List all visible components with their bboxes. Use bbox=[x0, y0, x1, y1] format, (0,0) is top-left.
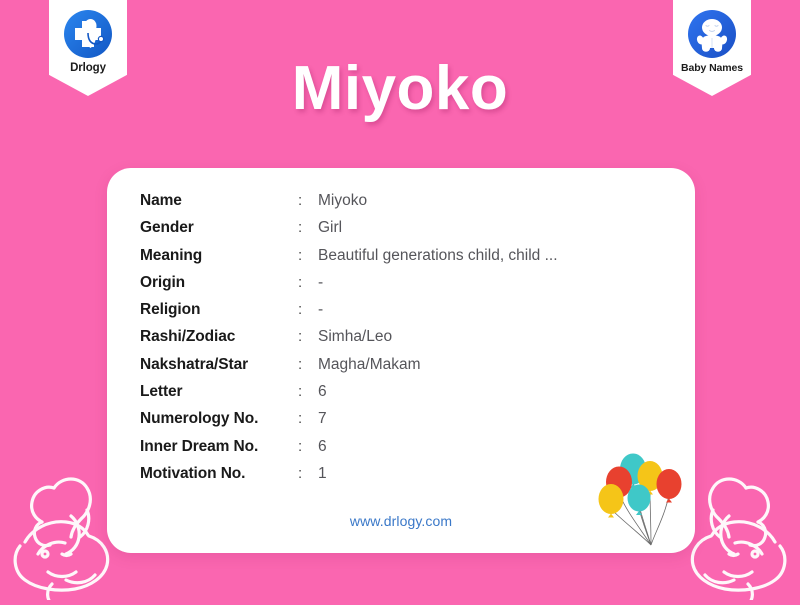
detail-value: Girl bbox=[318, 219, 342, 237]
detail-separator: : bbox=[298, 247, 318, 264]
detail-separator: : bbox=[298, 465, 318, 482]
detail-label: Inner Dream No. bbox=[140, 438, 298, 456]
detail-label: Letter bbox=[140, 383, 298, 401]
detail-separator: : bbox=[298, 301, 318, 318]
name-details-card: Name : Miyoko Gender : Girl Meaning : Be… bbox=[107, 168, 695, 553]
mother-and-baby-icon bbox=[0, 450, 112, 600]
detail-value: Magha/Makam bbox=[318, 356, 421, 374]
detail-row-name: Name : Miyoko bbox=[140, 192, 670, 219]
detail-row-inner-dream-no: Inner Dream No. : 6 bbox=[140, 438, 670, 465]
detail-label: Religion bbox=[140, 301, 298, 319]
detail-value: 7 bbox=[318, 410, 327, 428]
detail-row-origin: Origin : - bbox=[140, 274, 670, 301]
detail-row-meaning: Meaning : Beautiful generations child, c… bbox=[140, 247, 670, 274]
detail-label: Meaning bbox=[140, 247, 298, 265]
detail-value: 1 bbox=[318, 465, 327, 483]
detail-value: 6 bbox=[318, 383, 327, 401]
detail-separator: : bbox=[298, 356, 318, 373]
baby-icon bbox=[687, 9, 737, 59]
detail-row-gender: Gender : Girl bbox=[140, 219, 670, 246]
detail-label: Gender bbox=[140, 219, 298, 237]
detail-row-rashi-zodiac: Rashi/Zodiac : Simha/Leo bbox=[140, 328, 670, 355]
detail-value: Beautiful generations child, child ... bbox=[318, 247, 558, 265]
page-title: Miyoko bbox=[0, 58, 800, 120]
drlogy-logo-icon bbox=[63, 9, 113, 59]
detail-list: Name : Miyoko Gender : Girl Meaning : Be… bbox=[140, 192, 670, 492]
detail-row-nakshatra-star: Nakshatra/Star : Magha/Makam bbox=[140, 356, 670, 383]
detail-row-letter: Letter : 6 bbox=[140, 383, 670, 410]
detail-label: Nakshatra/Star bbox=[140, 356, 298, 374]
detail-separator: : bbox=[298, 328, 318, 345]
detail-value: - bbox=[318, 301, 323, 319]
detail-label: Rashi/Zodiac bbox=[140, 328, 298, 346]
detail-label: Name bbox=[140, 192, 298, 210]
detail-separator: : bbox=[298, 383, 318, 400]
detail-row-motivation-no: Motivation No. : 1 bbox=[140, 465, 670, 492]
detail-value: Simha/Leo bbox=[318, 328, 392, 346]
detail-separator: : bbox=[298, 219, 318, 236]
detail-row-religion: Religion : - bbox=[140, 301, 670, 328]
mother-and-baby-icon bbox=[688, 450, 800, 600]
detail-value: 6 bbox=[318, 438, 327, 456]
detail-value: - bbox=[318, 274, 323, 292]
detail-label: Motivation No. bbox=[140, 465, 298, 483]
detail-separator: : bbox=[298, 274, 318, 291]
poster-canvas: Drlogy bbox=[0, 0, 800, 600]
detail-value: Miyoko bbox=[318, 192, 367, 210]
detail-label: Numerology No. bbox=[140, 410, 298, 428]
detail-label: Origin bbox=[140, 274, 298, 292]
detail-separator: : bbox=[298, 410, 318, 427]
site-url[interactable]: www.drlogy.com bbox=[107, 513, 695, 529]
detail-separator: : bbox=[298, 438, 318, 455]
detail-row-numerology-no: Numerology No. : 7 bbox=[140, 410, 670, 437]
detail-separator: : bbox=[298, 192, 318, 209]
